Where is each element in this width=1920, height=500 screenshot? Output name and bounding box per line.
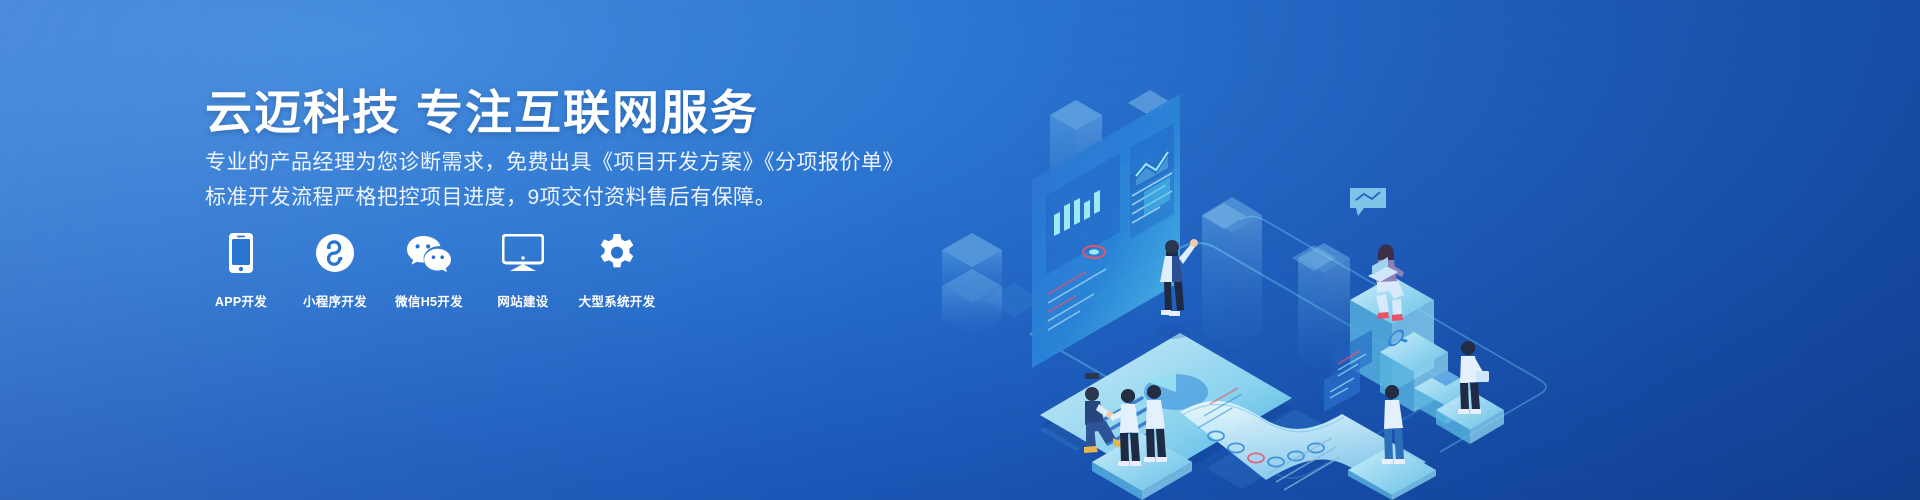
service-item-app[interactable]: APP开发 — [205, 232, 277, 310]
hero-copy-block: 云迈科技 专注互联网服务 专业的产品经理为您诊断需求，免费出具《项目开发方案》《… — [205, 0, 905, 500]
service-label: 微信H5开发 — [395, 291, 463, 310]
mobile-phone-icon — [227, 232, 255, 274]
wechat-icon — [406, 232, 452, 274]
service-label: 小程序开发 — [303, 291, 367, 310]
service-list: APP开发 小程序开发 — [205, 232, 653, 310]
page-title: 云迈科技 专注互联网服务 — [205, 74, 759, 143]
hero-banner: 云迈科技 专注互联网服务 专业的产品经理为您诊断需求，免费出具《项目开发方案》《… — [0, 0, 1920, 500]
service-item-system[interactable]: 大型系统开发 — [581, 232, 653, 310]
gear-icon — [597, 232, 637, 274]
service-item-website[interactable]: 网站建设 — [487, 232, 559, 310]
service-item-wechat-h5[interactable]: 微信H5开发 — [393, 232, 465, 310]
isometric-tech-illustration — [880, 0, 1920, 500]
monitor-icon — [502, 232, 544, 274]
subtitle-line-2: 标准开发流程严格把控项目进度，9项交付资料售后有保障。 — [205, 181, 776, 211]
service-label: APP开发 — [215, 291, 267, 310]
service-label: 网站建设 — [497, 291, 548, 310]
mini-program-icon — [315, 232, 355, 274]
service-item-miniprogram[interactable]: 小程序开发 — [299, 232, 371, 310]
service-label: 大型系统开发 — [579, 291, 656, 310]
subtitle-line-1: 专业的产品经理为您诊断需求，免费出具《项目开发方案》《分项报价单》 — [205, 146, 904, 176]
